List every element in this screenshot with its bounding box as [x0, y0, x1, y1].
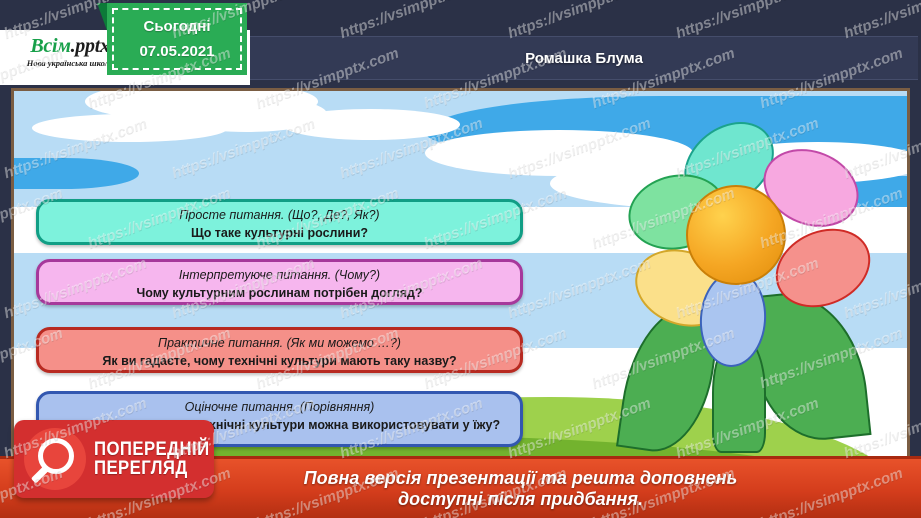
flower-core — [686, 185, 786, 285]
cloud-shape — [32, 114, 228, 142]
magnifier-icon — [24, 428, 86, 490]
purchase-banner-line1: Повна версія презентації та решта доповн… — [304, 468, 738, 489]
question-box-3: Практичне питання. (Як ми можемо …?) Як … — [36, 327, 523, 373]
preview-badge-line2: ПЕРЕГЛЯД — [94, 459, 210, 478]
purchase-banner-line2: доступні після придбання. — [304, 489, 738, 510]
preview-badge: ПОПЕРЕДНІЙ ПЕРЕГЛЯД — [14, 420, 214, 498]
window-frame: Всім.pptx Нова українська школа Сьогодні… — [0, 0, 921, 518]
date-badge-value: 07.05.2021 — [139, 43, 214, 60]
logo-main-prefix: Всім — [30, 35, 70, 57]
sky-band — [14, 158, 139, 189]
purchase-banner-text: Повна версія презентації та решта доповн… — [184, 468, 738, 509]
date-badge-label: Сьогодні — [144, 18, 211, 35]
question-text: Що таке культурні рослини? — [49, 225, 510, 242]
slide-title-bar: Ромашка Блума — [250, 36, 918, 80]
date-badge: Сьогодні 07.05.2021 — [107, 3, 247, 75]
question-type-label: Інтерпретуюче питання. (Чому?) — [49, 268, 510, 284]
question-type-label: Практичне питання. (Як ми можемо …?) — [49, 336, 510, 352]
cloud-shape — [282, 109, 461, 140]
flower-illustration — [604, 123, 904, 453]
question-type-label: Просте питання. (Що?, Де?, Як?) — [49, 208, 510, 224]
page-title: Ромашка Блума — [525, 50, 643, 67]
question-text: Чому культурним рослинам потрібен догляд… — [49, 285, 510, 302]
question-text: Як ви гадаєте, чому технічні культури ма… — [49, 353, 510, 370]
question-type-label: Оціночне питання. (Порівняння) — [49, 400, 510, 416]
preview-badge-text: ПОПЕРЕДНІЙ ПЕРЕГЛЯД — [94, 440, 225, 479]
question-box-2: Інтерпретуюче питання. (Чому?) Чому куль… — [36, 259, 523, 305]
question-box-1: Просте питання. (Що?, Де?, Як?) Що таке … — [36, 199, 523, 245]
preview-badge-line1: ПОПЕРЕДНІЙ — [94, 440, 210, 459]
